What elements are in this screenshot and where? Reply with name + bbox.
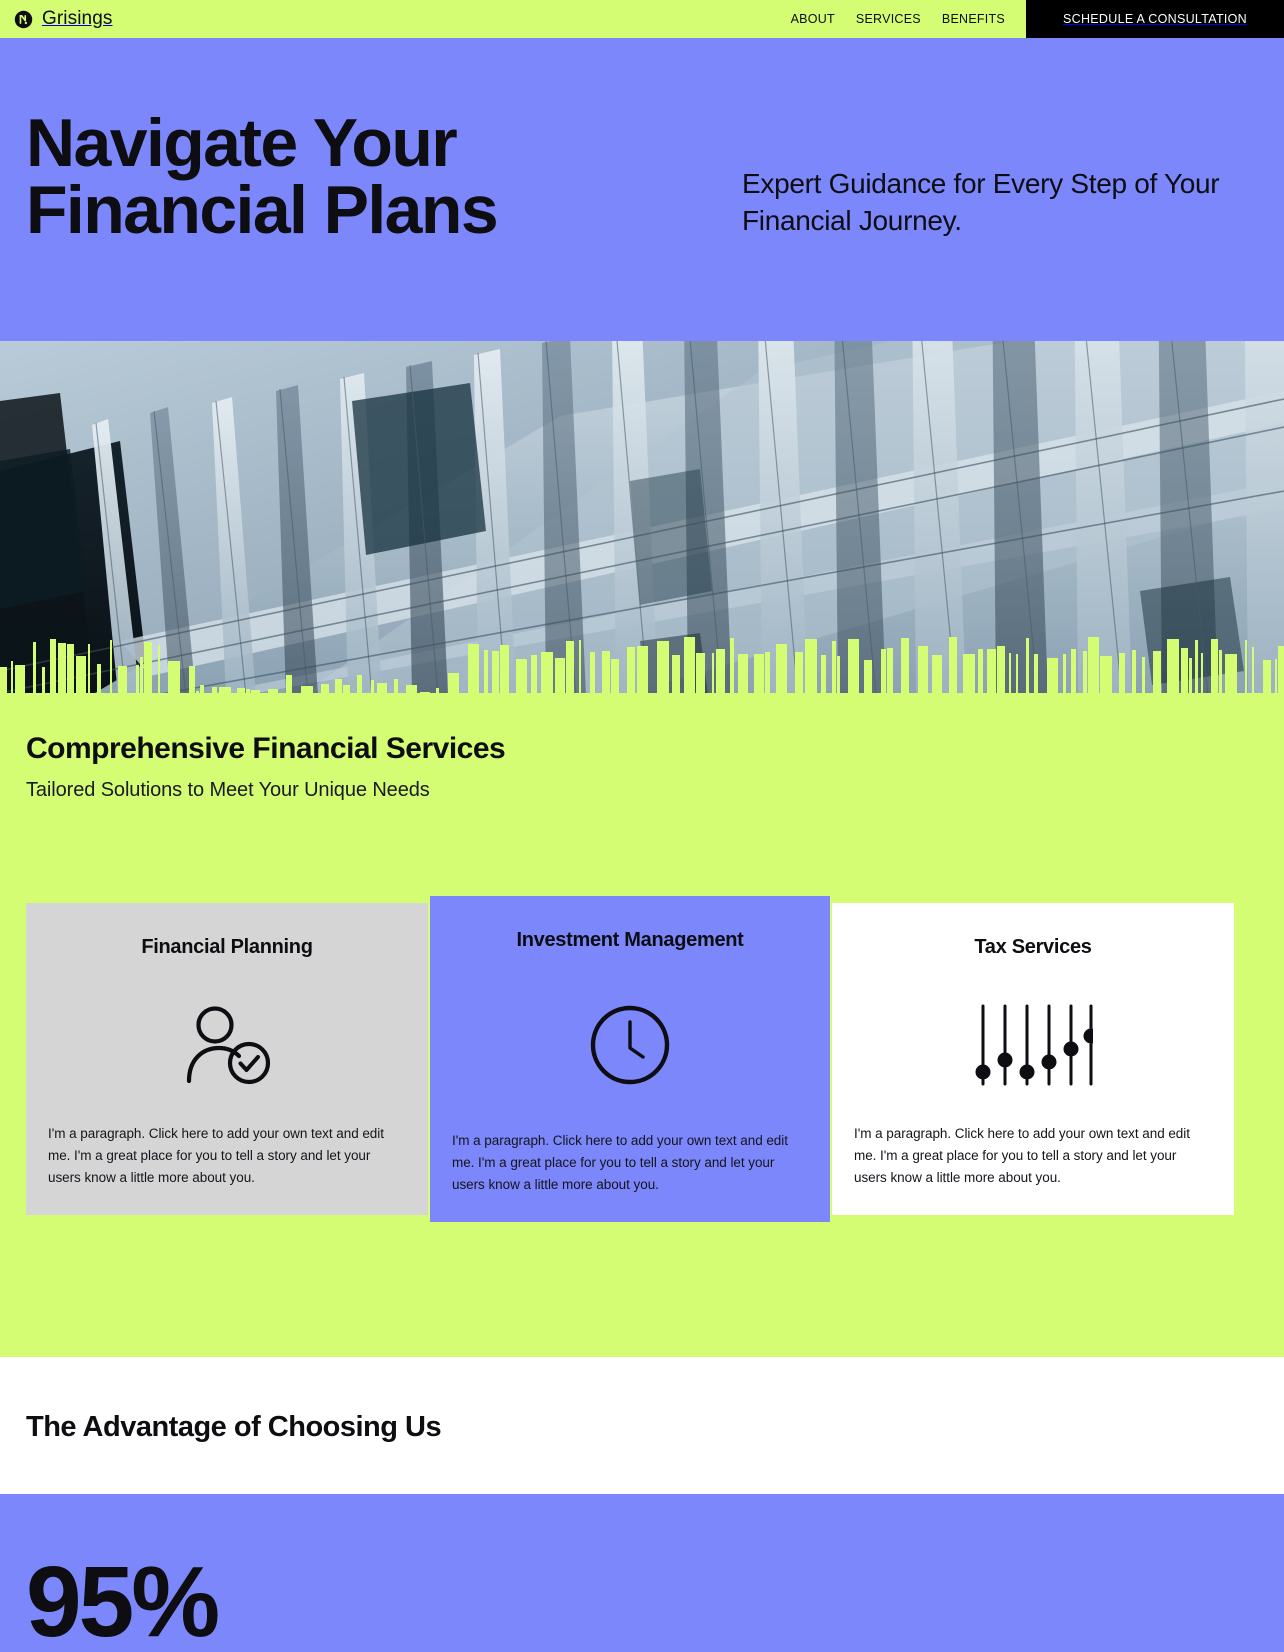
barcode-bar <box>657 641 669 696</box>
barcode-bar <box>1009 653 1011 696</box>
service-card-body: I'm a paragraph. Click here to add your … <box>854 1123 1212 1189</box>
barcode-bar <box>566 641 574 696</box>
nav-item-about[interactable]: ABOUT <box>791 12 835 26</box>
barcode-bar <box>949 637 957 696</box>
barcode-bar <box>590 652 595 696</box>
barcode-bar <box>555 658 565 696</box>
barcode-bar <box>1167 639 1179 696</box>
barcode-bar <box>696 653 705 696</box>
barcode-bar <box>118 666 127 696</box>
stat-number: 95% <box>26 1552 1258 1652</box>
brand-logo-link[interactable]: Grisings <box>0 0 112 38</box>
barcode-bar <box>1119 653 1125 696</box>
barcode-bar <box>987 649 996 696</box>
header-spacer <box>112 0 790 38</box>
grisings-logo-icon <box>14 10 33 29</box>
barcode-bar <box>805 639 817 696</box>
barcode-bar <box>776 644 787 696</box>
barcode-bar <box>832 641 836 696</box>
clock-icon <box>452 952 808 1130</box>
barcode-bar <box>901 638 909 696</box>
hero-title: Navigate Your Financial Plans <box>26 110 716 245</box>
barcode-bar <box>1278 646 1284 696</box>
barcode-bar <box>579 640 581 696</box>
barcode-bar <box>1034 654 1038 696</box>
service-cards: Financial Planning I'm a paragraph. Clic… <box>26 896 1258 1357</box>
barcode-bar <box>1189 658 1192 696</box>
barcode-bar <box>189 666 195 696</box>
barcode-bar <box>0 667 7 696</box>
barcode-bar <box>500 645 509 696</box>
barcode-bar <box>531 655 537 696</box>
barcode-bar <box>1100 656 1112 696</box>
barcode-bar <box>1219 650 1222 696</box>
barcode-bar <box>864 660 872 696</box>
brand-name: Grisings <box>42 8 112 30</box>
barcode-bar <box>1263 660 1271 696</box>
barcode-bar <box>765 652 770 696</box>
barcode-bar <box>978 649 983 696</box>
landing-page: Grisings ABOUT SERVICES BENEFITS SCHEDUL… <box>0 0 1284 1652</box>
barcode-bar <box>738 654 748 696</box>
barcode-bar <box>76 656 86 696</box>
barcode-bar <box>541 652 553 696</box>
nav-item-benefits[interactable]: BENEFITS <box>942 12 1005 26</box>
schedule-consultation-button[interactable]: SCHEDULE A CONSULTATION <box>1026 0 1284 38</box>
barcode-bar <box>1225 654 1237 696</box>
barcode-bar <box>611 659 619 696</box>
barcode-bar <box>468 644 479 696</box>
barcode-bar <box>1181 648 1188 696</box>
barcode-bar <box>730 638 734 696</box>
barcode-bar <box>1088 637 1099 696</box>
barcode-bar <box>1063 654 1066 696</box>
barcode-bar <box>795 652 803 696</box>
site-header: Grisings ABOUT SERVICES BENEFITS SCHEDUL… <box>0 0 1284 38</box>
barcode-bar <box>516 659 527 696</box>
services-subtitle: Tailored Solutions to Meet Your Unique N… <box>26 779 1258 802</box>
barcode-bar <box>1195 640 1198 696</box>
barcode-bar <box>963 654 975 696</box>
barcode-bar <box>932 655 942 696</box>
service-card-investment-management[interactable]: Investment Management I'm a paragraph. C… <box>430 896 830 1222</box>
barcode-bar <box>484 650 488 696</box>
hero-section: Navigate Your Financial Plans Expert Gui… <box>0 38 1284 341</box>
barcode-bar <box>110 640 112 696</box>
building-image-band <box>0 341 1284 696</box>
barcode-bar <box>1201 653 1203 696</box>
barcode-bar <box>627 647 635 696</box>
barcode-bar <box>881 649 886 696</box>
barcode-bar <box>97 664 101 696</box>
barcode-bar <box>754 654 764 696</box>
barcode-bar <box>492 651 499 696</box>
barcode-bar <box>1275 659 1277 696</box>
barcode-bar <box>11 661 13 696</box>
barcode-bar <box>140 657 143 696</box>
barcode-bar <box>136 665 139 696</box>
hero-title-line-2: Financial Plans <box>26 172 497 248</box>
barcode-bar <box>1016 654 1018 696</box>
barcode-bar <box>848 639 859 696</box>
barcode-bar <box>67 644 74 696</box>
schedule-consultation-label: SCHEDULE A CONSULTATION <box>1063 12 1247 26</box>
services-title: Comprehensive Financial Services <box>26 732 1258 766</box>
barcode-bar <box>33 642 36 696</box>
main-nav: ABOUT SERVICES BENEFITS <box>791 0 1026 38</box>
service-card-tax-services[interactable]: Tax Services <box>832 903 1234 1215</box>
barcode-bar <box>50 639 56 696</box>
service-card-body: I'm a paragraph. Click here to add your … <box>452 1130 808 1196</box>
barcode-transition-strip <box>0 636 1284 696</box>
barcode-bar <box>1047 658 1058 696</box>
advantage-title: The Advantage of Choosing Us <box>26 1411 1258 1444</box>
barcode-bar <box>88 644 90 696</box>
barcode-bar <box>1071 649 1076 696</box>
barcode-bar <box>712 653 714 696</box>
stats-section: 95% <box>0 1494 1284 1652</box>
barcode-bar <box>1083 651 1087 696</box>
hero-title-line-1: Navigate Your <box>26 105 456 181</box>
hero-subtitle-block: Expert Guidance for Every Step of Your F… <box>716 38 1258 341</box>
barcode-bar <box>602 651 610 696</box>
service-card-title: Tax Services <box>854 936 1212 959</box>
nav-item-services[interactable]: SERVICES <box>856 12 921 26</box>
barcode-bar <box>821 655 826 696</box>
service-card-body: I'm a paragraph. Click here to add your … <box>48 1123 406 1189</box>
barcode-bar <box>716 649 725 696</box>
barcode-bar <box>1153 651 1161 696</box>
barcode-bar <box>837 656 840 696</box>
barcode-bar <box>168 661 180 696</box>
service-card-title: Investment Management <box>452 929 808 952</box>
barcode-bar <box>58 643 66 696</box>
sliders-icon <box>854 959 1212 1123</box>
barcode-bar <box>918 646 928 696</box>
barcode-bar <box>1026 638 1029 696</box>
barcode-bar <box>144 642 152 696</box>
user-check-icon <box>48 959 406 1123</box>
barcode-bar <box>1211 639 1218 696</box>
hero-title-block: Navigate Your Financial Plans <box>26 38 716 341</box>
barcode-bar <box>1252 647 1254 696</box>
barcode-bar <box>42 667 45 696</box>
hero-subtitle: Expert Guidance for Every Step of Your F… <box>742 166 1242 240</box>
advantage-section: The Advantage of Choosing Us <box>0 1357 1284 1494</box>
barcode-bar <box>1245 640 1247 696</box>
barcode-bar <box>672 655 680 696</box>
barcode-bar <box>637 646 648 696</box>
barcode-bar <box>1142 657 1145 696</box>
barcode-bar <box>158 645 160 696</box>
barcode-bar <box>15 665 25 696</box>
service-card-title: Financial Planning <box>48 936 406 959</box>
barcode-bar <box>684 637 695 696</box>
service-card-financial-planning[interactable]: Financial Planning I'm a paragraph. Clic… <box>26 903 428 1215</box>
barcode-bar <box>1132 650 1136 696</box>
barcode-bar <box>997 646 1005 696</box>
services-section: Comprehensive Financial Services Tailore… <box>0 696 1284 1357</box>
barcode-bar <box>887 648 893 696</box>
